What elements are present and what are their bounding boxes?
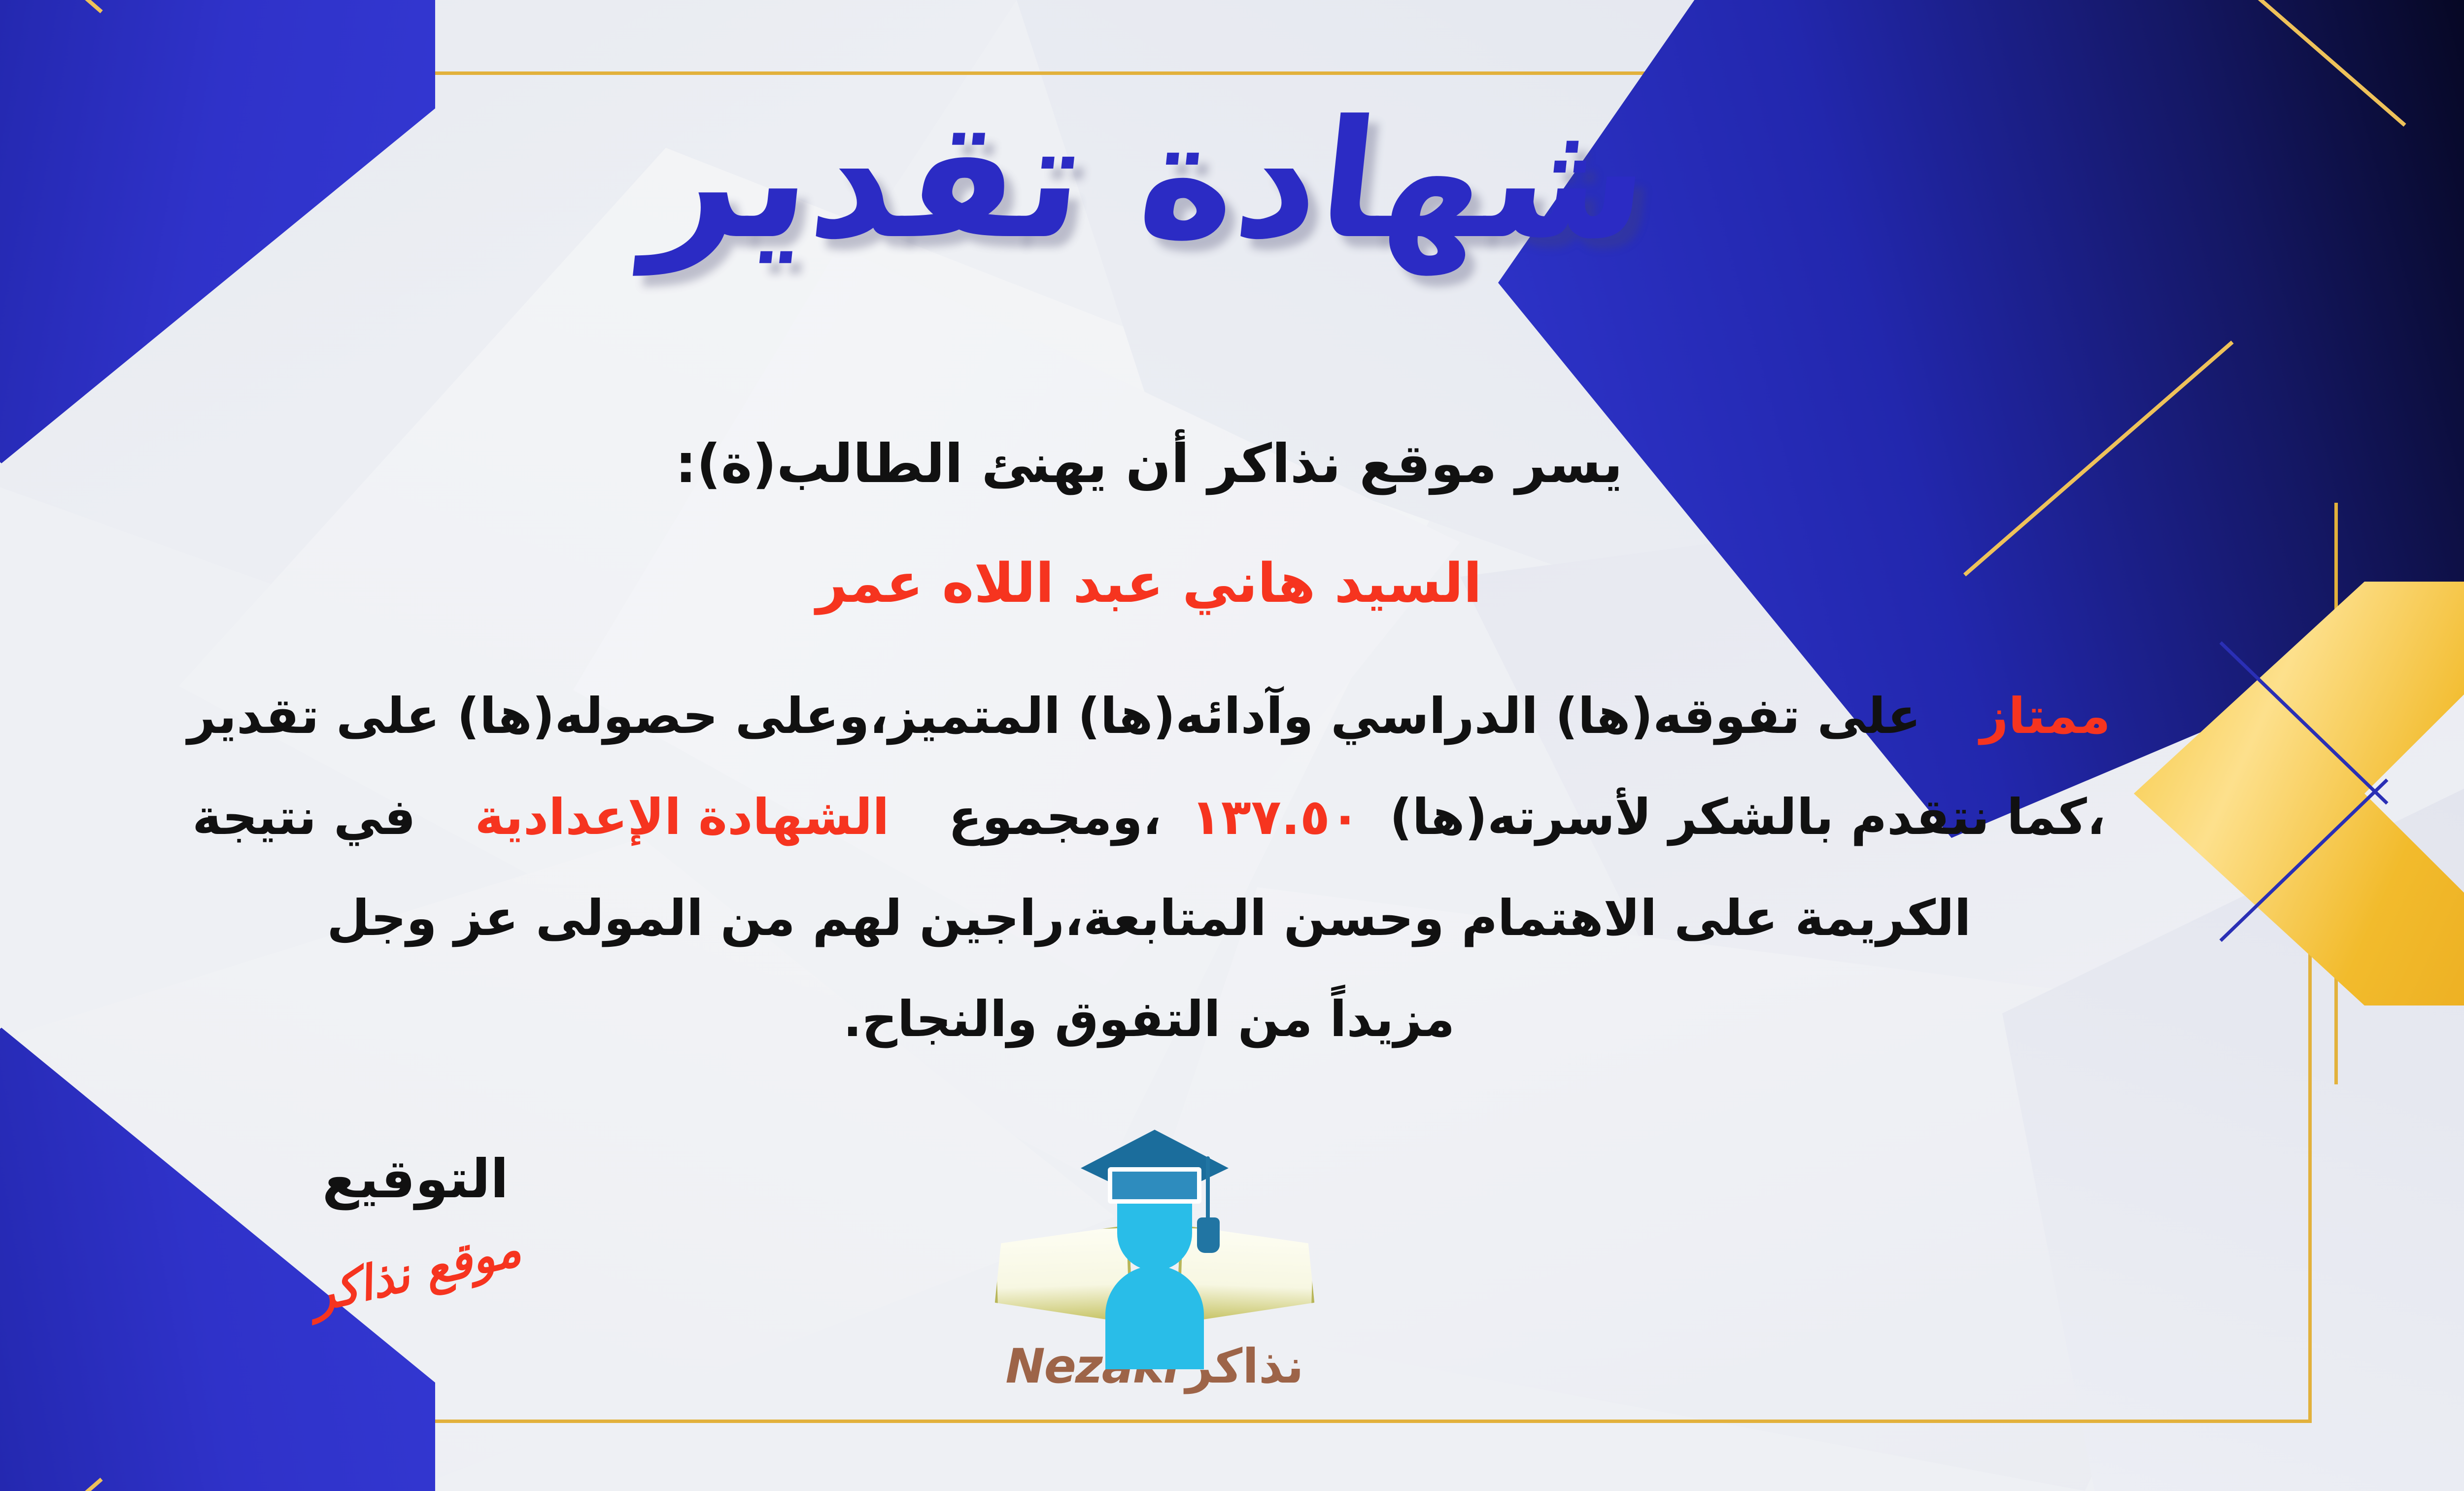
body-line-2: ،كما نتقدم بالشكر لأسرته(ها)١٣٧.٥٠،ومجمو… [0,789,2301,845]
signature-label: التوقيع [238,1148,593,1210]
tassel-cord [1206,1156,1210,1220]
body-line-1: ممتازعلى تفوقه(ها) الدراسي وآدائه(ها) ال… [0,688,2301,744]
body-line-2-head: في نتيجة [192,788,415,846]
student-name: السيد هاني عبد اللاه عمر [0,552,2301,615]
greeting-line: يسر موقع نذاكر أن يهنئ الطالب(ة): [0,434,2301,495]
brand-logo: نذاكرNezakr [982,1124,1327,1420]
body-line-2-tail: ،كما نتقدم بالشكر لأسرته(ها) [1390,788,2106,846]
body-line-2-mid: ،ومجموع [949,788,1162,846]
tassel [1197,1217,1220,1253]
grade-value: ممتاز [1980,687,2111,745]
avatar-body [1105,1266,1204,1369]
total-score: ١٣٧.٥٠ [1191,788,1360,846]
certificate-title: شهادة تقدير [0,99,2464,261]
body-line-1-text: على تفوقه(ها) الدراسي وآدائه(ها) المتميز… [187,687,1920,745]
signature-mark: موقع نذاكر [305,1221,526,1323]
certificate-content: شهادة تقدير يسر موقع نذاكر أن يهنئ الطال… [0,0,2464,1491]
exam-name: الشهادة الإعدادية [475,788,890,846]
body-line-3: الكريمة على الاهتمام وحسن المتابعة،راجين… [0,890,2301,946]
certificate-canvas: شهادة تقدير يسر موقع نذاكر أن يهنئ الطال… [0,0,2464,1491]
body-line-4: مزيداً من التفوق والنجاح. [0,991,2301,1047]
signature-block: التوقيع موقع نذاكر [238,1148,593,1300]
graduate-book-icon [982,1124,1327,1331]
graduation-cap-band [1108,1167,1201,1204]
